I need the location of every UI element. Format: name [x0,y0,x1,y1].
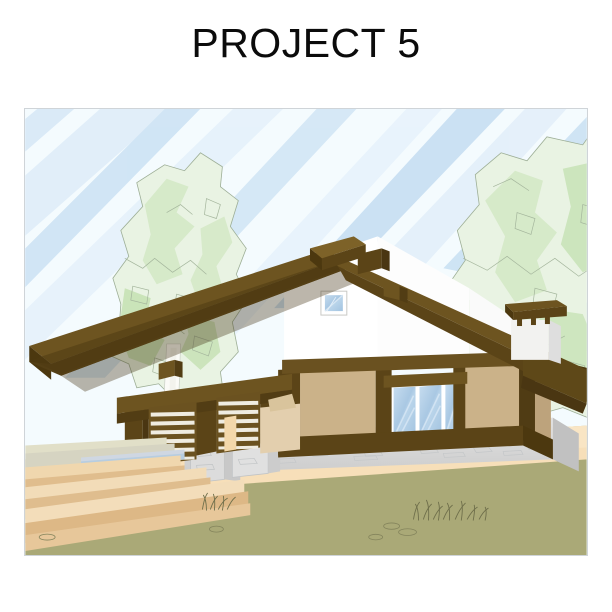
architectural-rendering [25,109,587,555]
illustration-frame [24,108,588,556]
chimney [505,300,567,364]
page-title: PROJECT 5 [0,18,612,68]
